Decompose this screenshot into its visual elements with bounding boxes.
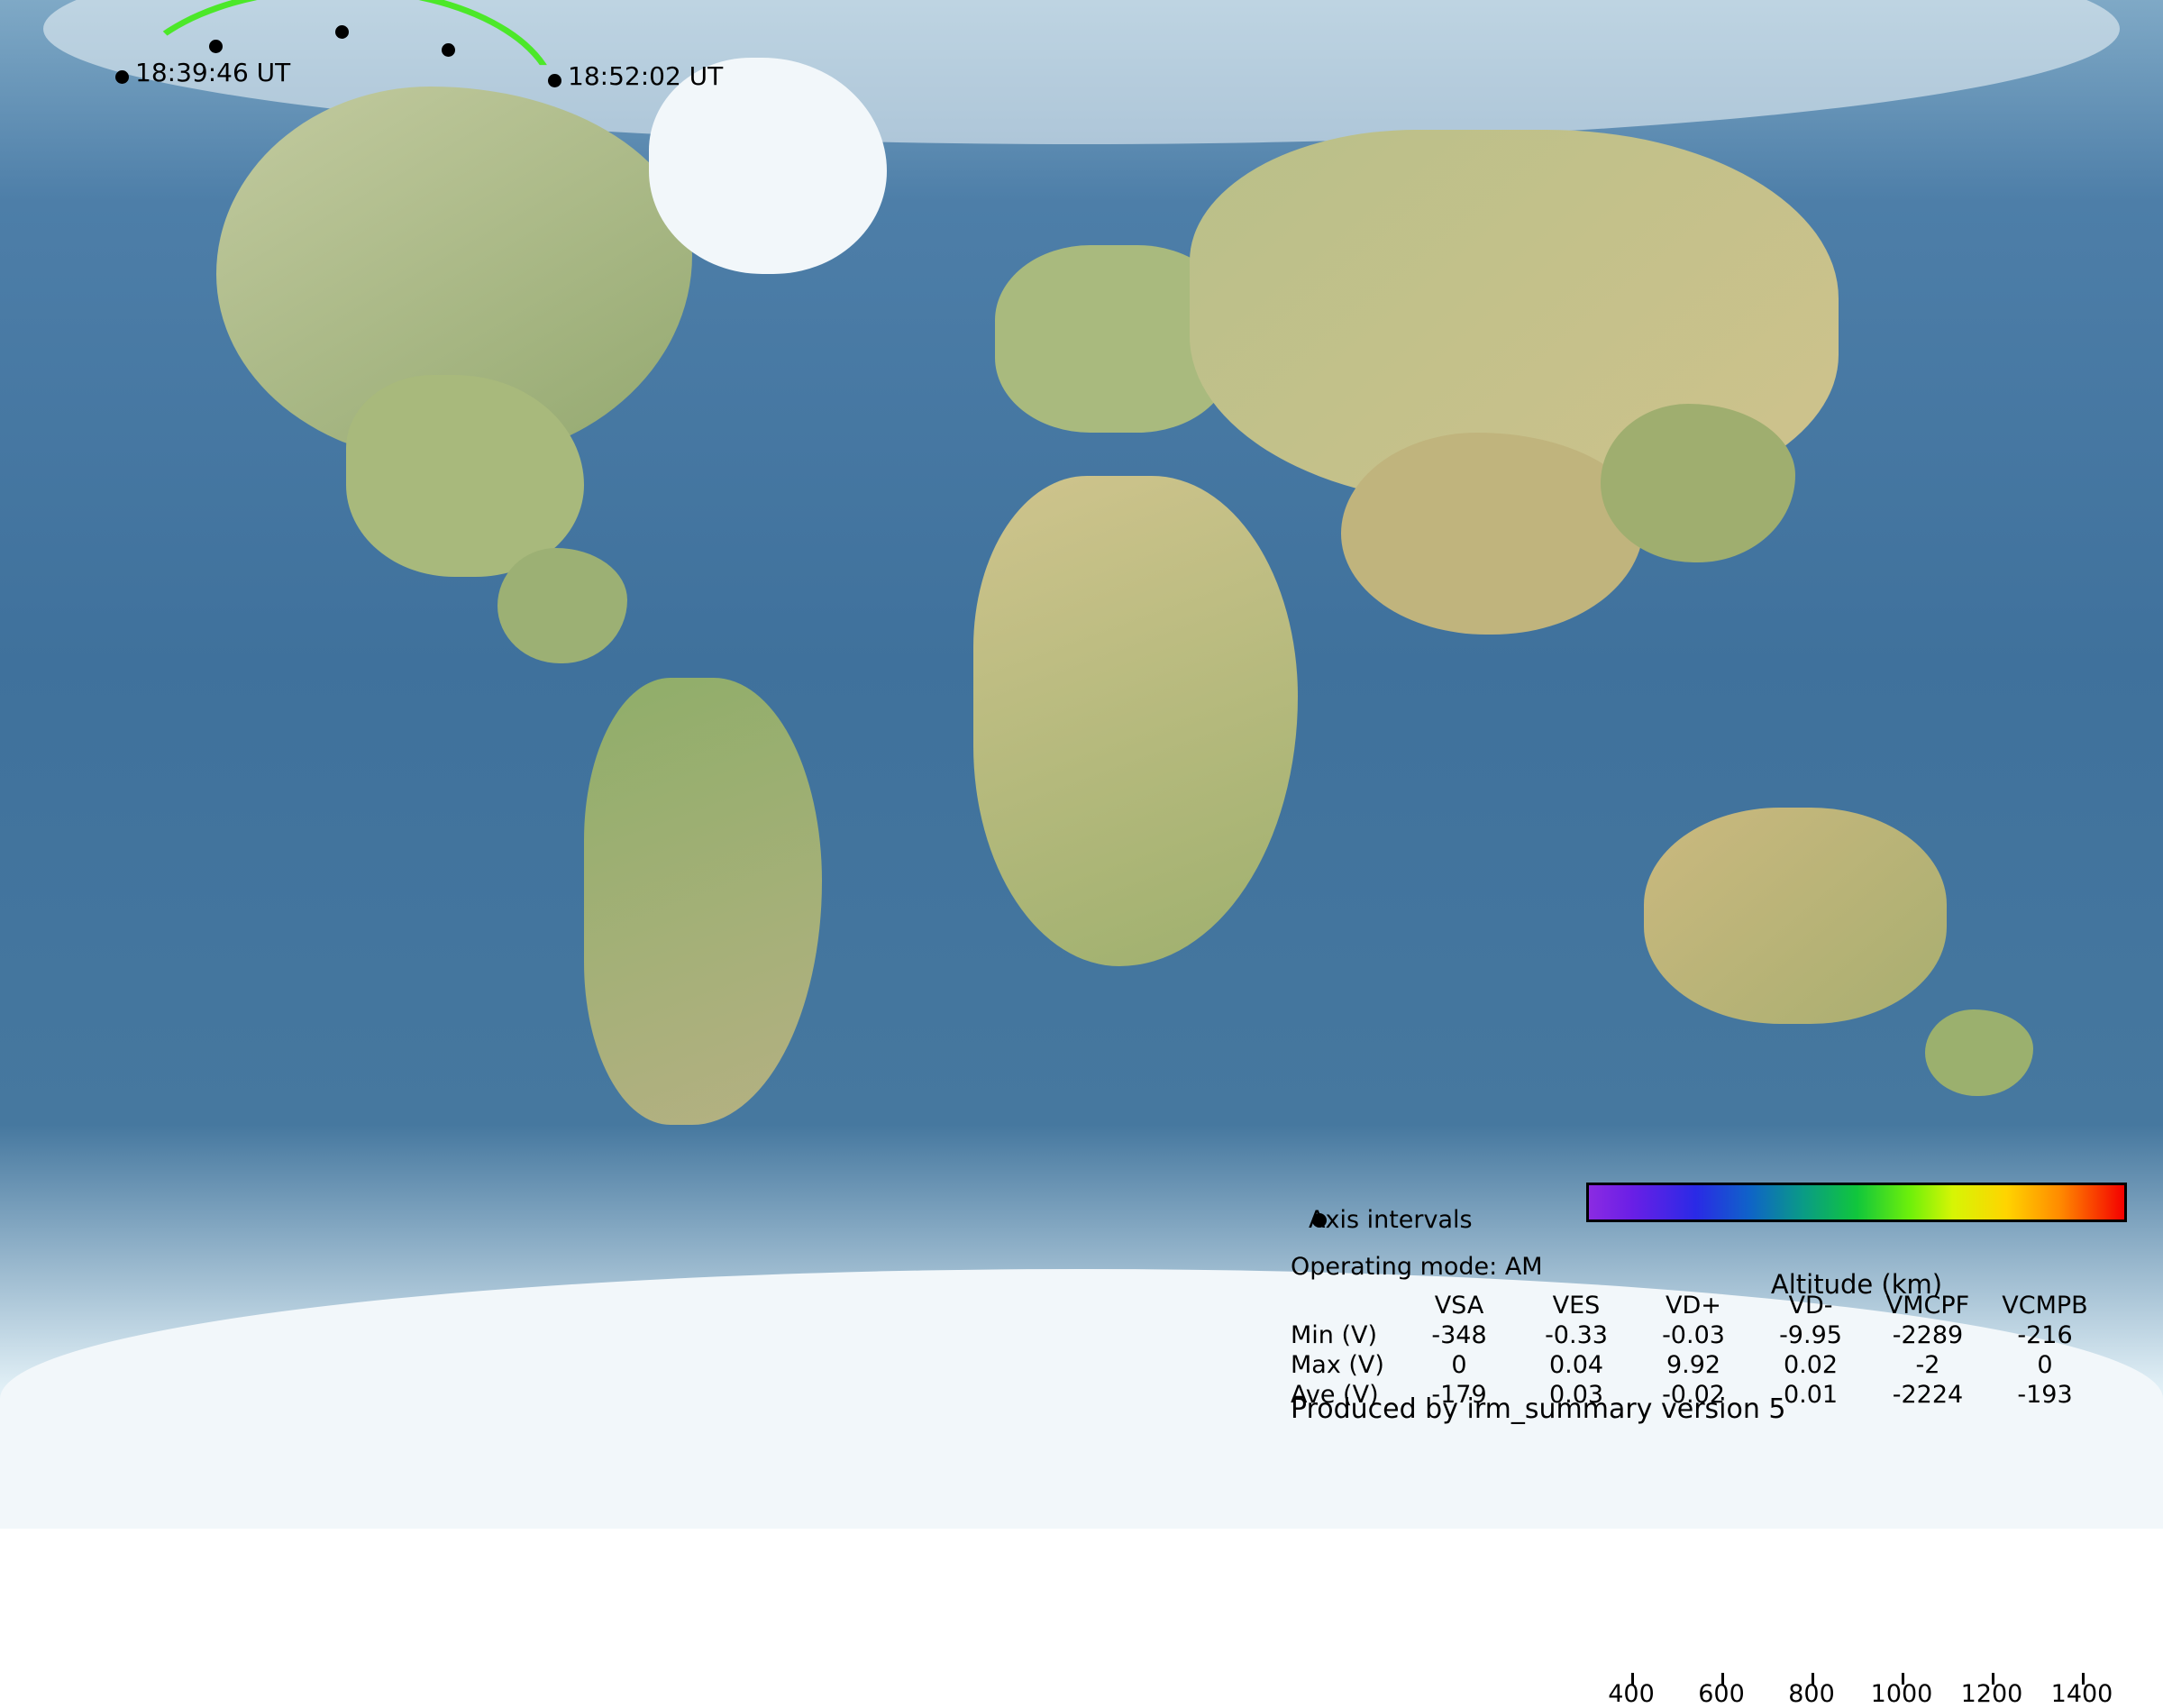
altitude-tick-label: 1000 <box>1861 1680 1942 1708</box>
voltage-column-header: VD- <box>1752 1291 1869 1320</box>
produced-by-footer: Produced by irm_summary version 5 <box>1291 1393 1785 1425</box>
voltage-column-header: VES <box>1518 1291 1635 1320</box>
altitude-tick-label: 1400 <box>2041 1680 2122 1708</box>
altitude-tick-label: 400 <box>1591 1680 1672 1708</box>
voltage-cell: -216 <box>1986 1320 2104 1350</box>
voltage-row-label: Min (V) <box>1291 1320 1401 1350</box>
voltage-header-row: VSAVESVD+VD-VMCPFVCMPB <box>1291 1291 2104 1320</box>
track-marker-dot <box>335 25 349 39</box>
track-end-time-label: 18:52:02 UT <box>568 61 723 91</box>
voltage-cell: -9.95 <box>1752 1320 1869 1350</box>
altitude-tick-label: 600 <box>1681 1680 1762 1708</box>
voltage-column-header: VD+ <box>1635 1291 1752 1320</box>
voltage-row: Min (V)-348-0.33-0.03-9.95-2289-216 <box>1291 1320 2104 1350</box>
voltage-cell: 0 <box>1986 1350 2104 1380</box>
voltage-cell: -348 <box>1401 1320 1518 1350</box>
voltage-cell: -0.03 <box>1635 1320 1752 1350</box>
voltage-column-header: VCMPB <box>1986 1291 2104 1320</box>
track-marker-dot <box>209 40 223 53</box>
voltage-cell: 0.04 <box>1518 1350 1635 1380</box>
voltage-corner-cell <box>1291 1291 1401 1320</box>
voltage-cell: 0 <box>1401 1350 1518 1380</box>
axis-intervals-label: Axis intervals <box>1309 1206 1473 1234</box>
voltage-cell: -0.33 <box>1518 1320 1635 1350</box>
voltage-cell: 9.92 <box>1635 1350 1752 1380</box>
altitude-tick-label: 1200 <box>1951 1680 2032 1708</box>
voltage-column-header: VSA <box>1401 1291 1518 1320</box>
voltage-row-label: Max (V) <box>1291 1350 1401 1380</box>
voltage-cell: -2224 <box>1869 1380 1986 1410</box>
voltage-cell: -193 <box>1986 1380 2104 1410</box>
voltage-cell: 0.02 <box>1752 1350 1869 1380</box>
voltage-summary-table: VSAVESVD+VD-VMCPFVCMPBMin (V)-348-0.33-0… <box>1291 1291 2104 1410</box>
track-marker-dot <box>548 74 561 87</box>
track-start-time-label: 18:39:46 UT <box>135 58 290 87</box>
track-marker-dot <box>442 43 455 57</box>
track-marker-dot <box>115 70 129 84</box>
voltage-column-header: VMCPF <box>1869 1291 1986 1320</box>
voltage-cell: -2 <box>1869 1350 1986 1380</box>
altitude-colorbar <box>1586 1183 2127 1222</box>
voltage-cell: -2289 <box>1869 1320 1986 1350</box>
altitude-tick-label: 800 <box>1771 1680 1852 1708</box>
voltage-row: Max (V)00.049.920.02-20 <box>1291 1350 2104 1380</box>
ground-track-map[interactable]: 18:39:46 UT 18:52:02 UT <box>0 0 793 451</box>
operating-mode-label: Operating mode: AM <box>1291 1253 1543 1281</box>
